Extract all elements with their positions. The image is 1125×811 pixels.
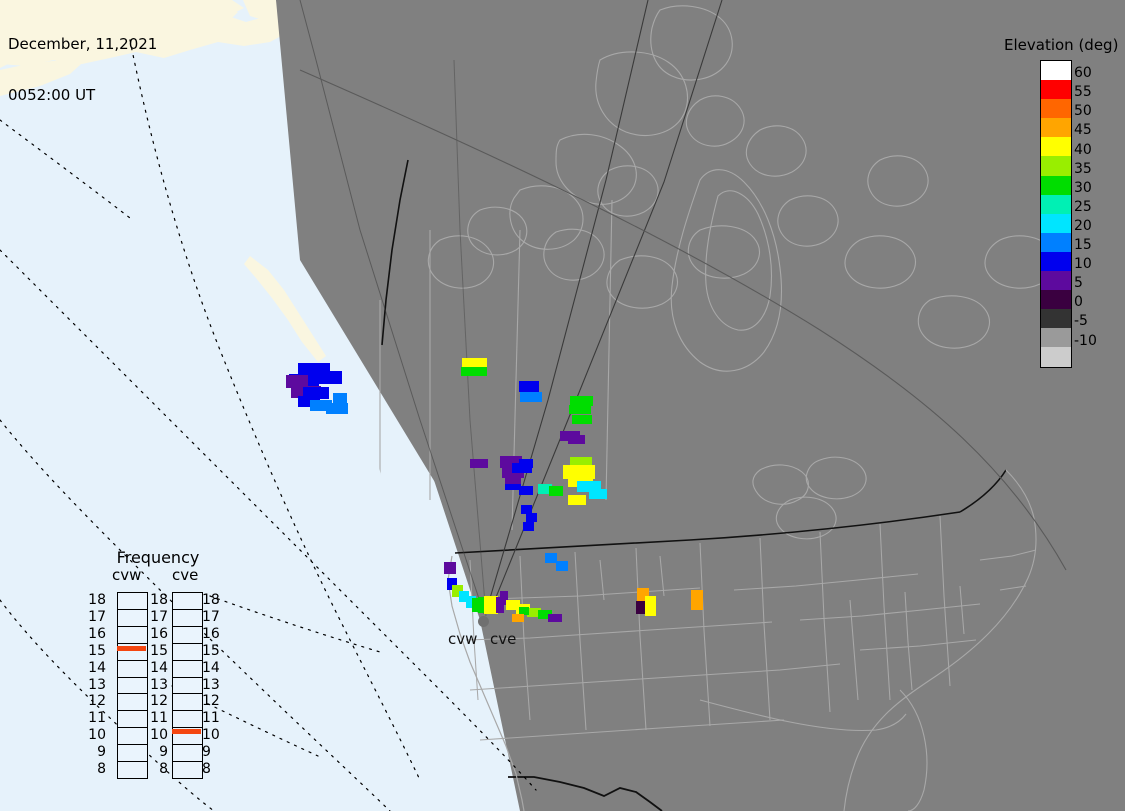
- colorbar-swatch-13: [1041, 309, 1071, 328]
- gauge-cell: [173, 593, 202, 610]
- colorbar-swatch-6: [1041, 176, 1071, 195]
- timestamp-block: December, 11,2021 0052:00 UT: [8, 2, 157, 138]
- frequency-gauge-names: cvw cve: [84, 568, 232, 586]
- gauge-cell: [173, 610, 202, 627]
- gauge-marker-cvw: [117, 646, 146, 651]
- gauge-cell: [118, 610, 147, 627]
- gauge-name-cve: cve: [172, 568, 198, 583]
- gauge-cell: [118, 593, 147, 610]
- gauge-cell: [173, 644, 202, 661]
- colorbar-swatch-7: [1041, 195, 1071, 214]
- gauge-tick-18: 18: [202, 593, 224, 607]
- time-label: 0052:00 UT: [8, 87, 157, 104]
- colorbar-swatch-1: [1041, 80, 1071, 99]
- colorbar-tick-30: 30: [1074, 181, 1092, 195]
- colorbar-tick-0: 0: [1074, 295, 1083, 309]
- colorbar-swatch-15: [1041, 347, 1071, 366]
- frequency-legend: Frequency cvw cve 18171615141312111098 1…: [84, 548, 234, 786]
- gauge-cell: [118, 762, 147, 778]
- gauge-tick-9: 9: [146, 745, 168, 759]
- gauge-cell: [173, 661, 202, 678]
- gauge-tick-14: 14: [202, 661, 224, 675]
- colorbar-tick--10: -10: [1074, 334, 1097, 348]
- gauge-cell: [173, 627, 202, 644]
- gauge-cve: [172, 592, 203, 779]
- gauge-tick-12: 12: [202, 694, 224, 708]
- colorbar-tick-50: 50: [1074, 104, 1092, 118]
- gauge-tick-9: 9: [84, 745, 106, 759]
- colorbar-swatch-2: [1041, 99, 1071, 118]
- gauge-cell: [173, 745, 202, 762]
- gauge-tick-13: 13: [84, 678, 106, 692]
- site-label-cvw: cvw: [448, 630, 477, 648]
- frequency-gauges: 18171615141312111098 1817161514131211109…: [84, 586, 234, 786]
- gauge-cell: [118, 711, 147, 728]
- gauge-tick-8: 8: [202, 762, 224, 776]
- gauge-cell: [118, 678, 147, 695]
- colorbar-swatch-4: [1041, 137, 1071, 156]
- colorbar-tick-10: 10: [1074, 257, 1092, 271]
- gauge-cell: [118, 694, 147, 711]
- colorbar-swatch-0: [1041, 61, 1071, 80]
- colorbar-swatch-8: [1041, 214, 1071, 233]
- radar-map-figure: December, 11,2021 0052:00 UT Elevation (…: [0, 0, 1125, 811]
- colorbar-tick-40: 40: [1074, 143, 1092, 157]
- gauge-cell: [118, 728, 147, 745]
- gauge-tick-17: 17: [84, 610, 106, 624]
- gauge-tick-15: 15: [146, 644, 168, 658]
- colorbar-swatch-12: [1041, 290, 1071, 309]
- colorbar-swatches: [1040, 60, 1072, 368]
- colorbar-swatch-11: [1041, 271, 1071, 290]
- elevation-colorbar: Elevation (deg) 605550454035302520151050…: [1002, 36, 1125, 368]
- colorbar-tick-15: 15: [1074, 238, 1092, 252]
- gauge-cell: [173, 694, 202, 711]
- gauge-tick-17: 17: [202, 610, 224, 624]
- gauge-tick-15: 15: [202, 644, 224, 658]
- gauge-tick-18: 18: [84, 593, 106, 607]
- radar-site-marker: [478, 616, 489, 627]
- gauge-tick-14: 14: [84, 661, 106, 675]
- site-label-cve: cve: [490, 630, 516, 648]
- gauge-cvw: [117, 592, 148, 779]
- gauge-tick-16: 16: [84, 627, 106, 641]
- gauge-cell: [118, 661, 147, 678]
- gauge-tick-9: 9: [202, 745, 224, 759]
- gauge-tick-10: 10: [84, 728, 106, 742]
- colorbar-title: Elevation (deg): [1004, 36, 1125, 54]
- gauge-name-cvw: cvw: [112, 568, 141, 583]
- colorbar-body: 605550454035302520151050-5-10: [1040, 60, 1125, 368]
- gauge-cell: [118, 627, 147, 644]
- colorbar-tick-60: 60: [1074, 66, 1092, 80]
- gauge-tick-12: 12: [146, 694, 168, 708]
- gauge-tick-10: 10: [146, 728, 168, 742]
- colorbar-swatch-5: [1041, 156, 1071, 175]
- colorbar-tick-25: 25: [1074, 200, 1092, 214]
- gauge-tick-8: 8: [146, 762, 168, 776]
- gauge-cell: [173, 762, 202, 778]
- colorbar-swatch-14: [1041, 328, 1071, 347]
- colorbar-swatch-9: [1041, 233, 1071, 252]
- gauge-scale-cve-left: 18171615141312111098: [146, 586, 170, 784]
- colorbar-swatch-3: [1041, 118, 1071, 137]
- gauge-tick-11: 11: [146, 711, 168, 725]
- gauge-marker-cve: [172, 729, 201, 734]
- frequency-title: Frequency: [84, 548, 232, 567]
- gauge-tick-11: 11: [84, 711, 106, 725]
- gauge-tick-11: 11: [202, 711, 224, 725]
- colorbar-tick-55: 55: [1074, 85, 1092, 99]
- gauge-scale-cvw: 18171615141312111098: [84, 586, 108, 784]
- date-label: December, 11,2021: [8, 36, 157, 53]
- gauge-scale-cve: 18171615141312111098: [202, 586, 226, 784]
- gauge-tick-13: 13: [202, 678, 224, 692]
- gauge-tick-14: 14: [146, 661, 168, 675]
- gauge-cell: [173, 678, 202, 695]
- gauge-tick-10: 10: [202, 728, 224, 742]
- gauge-tick-12: 12: [84, 694, 106, 708]
- colorbar-tick-20: 20: [1074, 219, 1092, 233]
- gauge-tick-16: 16: [146, 627, 168, 641]
- colorbar-tick-45: 45: [1074, 123, 1092, 137]
- colorbar-tick-labels: 605550454035302520151050-5-10: [1074, 60, 1125, 368]
- gauge-tick-8: 8: [84, 762, 106, 776]
- colorbar-tick-5: 5: [1074, 276, 1083, 290]
- gauge-tick-16: 16: [202, 627, 224, 641]
- colorbar-swatch-10: [1041, 252, 1071, 271]
- gauge-tick-18: 18: [146, 593, 168, 607]
- colorbar-tick--5: -5: [1074, 314, 1088, 328]
- colorbar-tick-35: 35: [1074, 162, 1092, 176]
- gauge-cell: [173, 711, 202, 728]
- gauge-cell: [118, 745, 147, 762]
- gauge-tick-13: 13: [146, 678, 168, 692]
- gauge-tick-15: 15: [84, 644, 106, 658]
- gauge-tick-17: 17: [146, 610, 168, 624]
